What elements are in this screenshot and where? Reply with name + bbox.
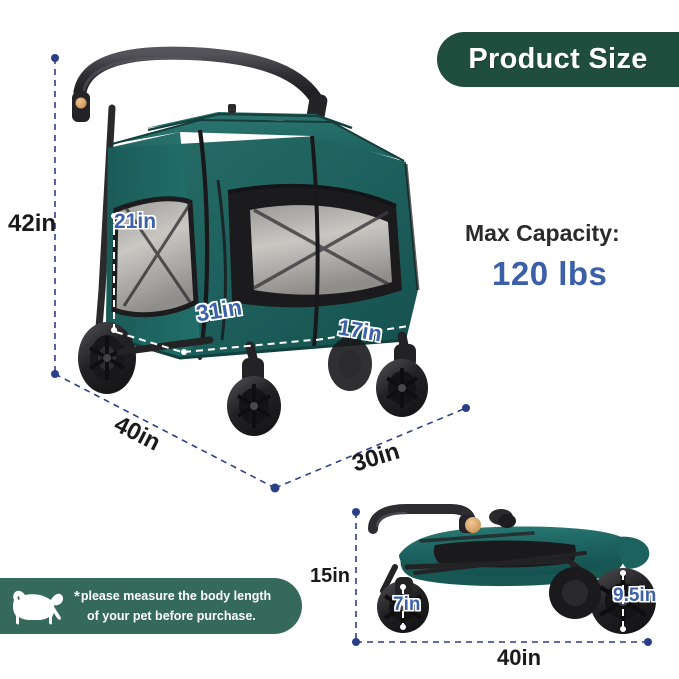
note-line-1: please measure the body length — [81, 589, 271, 603]
note-asterisk: * — [74, 588, 80, 605]
dimension-label-height-total: 42in — [8, 210, 56, 238]
dog-silhouette-icon — [0, 586, 74, 626]
pet-measure-note-text: *please measure the body length of your … — [74, 587, 279, 624]
max-capacity-value: 120 lbs — [492, 255, 679, 293]
note-line-2: of your pet before purchase. — [74, 608, 256, 625]
max-capacity-label: Max Capacity: — [465, 220, 665, 247]
product-size-title: Product Size — [468, 43, 647, 76]
dimension-label-front-wheel: 7in — [393, 594, 420, 616]
guide-15in — [352, 508, 360, 646]
dimension-label-rear-wheel: 9.5in — [613, 585, 656, 607]
product-size-banner: Product Size — [437, 32, 679, 87]
dimension-label-interior-height: 21in — [114, 210, 156, 234]
dimension-label-folded-length: 40in — [497, 645, 541, 671]
infographic-canvas: Product Size Max Capacity: 120 lbs 42in … — [0, 0, 679, 679]
dimension-label-folded-height: 15in — [310, 565, 350, 588]
pet-measure-note-banner: *please measure the body length of your … — [0, 578, 302, 634]
